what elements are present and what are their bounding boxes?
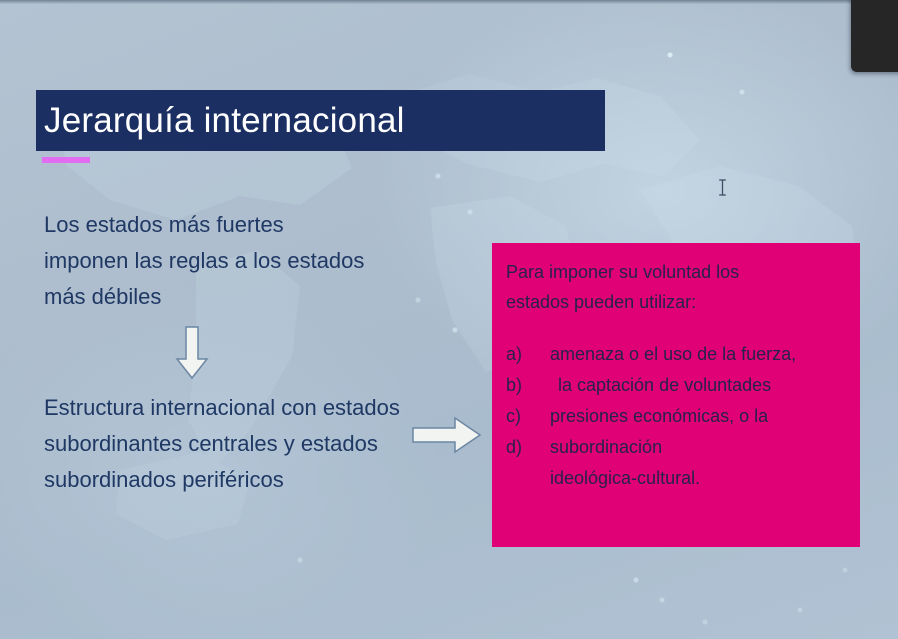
list-item-marker: c) — [506, 401, 550, 432]
list-item: b) la captación de voluntades — [506, 370, 842, 401]
list-item-label: presiones económicas, o la — [550, 401, 842, 432]
top-edge-strip — [0, 0, 898, 4]
participant-video-tile[interactable] — [851, 0, 898, 72]
list-item-label: subordinación — [550, 432, 842, 463]
list-item: a) amenaza o el uso de la fuerza, — [506, 339, 842, 370]
list-item-label: la captación de voluntades — [550, 370, 842, 401]
list-item-label: amenaza o el uso de la fuerza, — [550, 339, 842, 370]
statement-lower: Estructura internacional con estados sub… — [44, 390, 404, 498]
text-ibeam-cursor — [717, 178, 728, 197]
slide-title-box: Jerarquía internacional — [36, 90, 605, 151]
list-item-marker: b) — [506, 370, 550, 401]
list-item-marker: a) — [506, 339, 550, 370]
methods-panel: Para imponer su voluntad los estados pue… — [492, 243, 860, 547]
panel-list: a) amenaza o el uso de la fuerza, b) la … — [506, 339, 842, 494]
panel-intro-text: Para imponer su voluntad los estados pue… — [506, 257, 806, 317]
statement-top: Los estados más fuertes imponen las regl… — [44, 207, 374, 315]
title-accent-underline — [42, 157, 90, 163]
list-item: d) subordinación — [506, 432, 842, 463]
list-item: c) presiones económicas, o la — [506, 401, 842, 432]
page-title: Jerarquía internacional — [36, 101, 405, 141]
list-item-continuation: ideológica-cultural. — [506, 463, 842, 494]
right-arrow-icon — [411, 415, 483, 455]
down-arrow-icon — [174, 325, 210, 381]
list-item-marker: d) — [506, 432, 550, 463]
slide-screen: Jerarquía internacional Los estados más … — [0, 0, 898, 639]
